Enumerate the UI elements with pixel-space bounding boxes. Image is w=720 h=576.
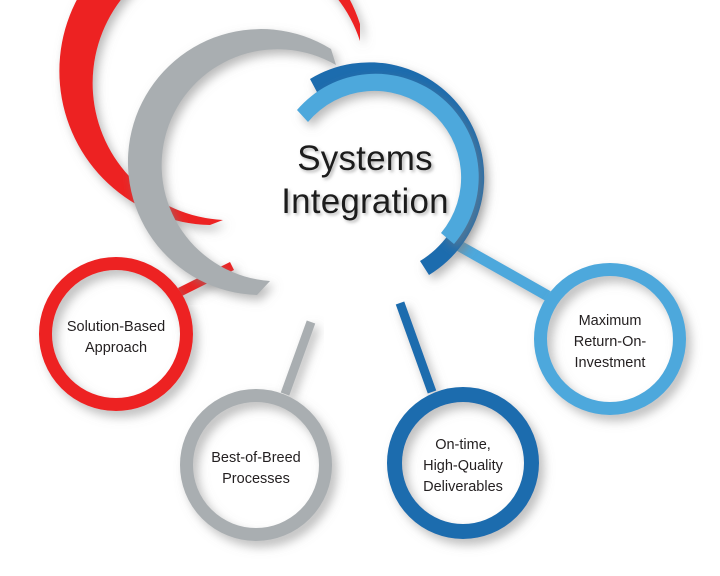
node-label-line: High-Quality [423,458,504,474]
node-solution-based-approach[interactable]: Solution-Based Approach [46,264,187,405]
node-label-line: Approach [85,340,147,356]
node-on-time-high-quality-deliverables[interactable]: On-time, High-Quality Deliverables [395,395,532,532]
node-label-line: Best-of-Breed [211,450,300,466]
title-line-1: Systems [297,139,433,178]
connector-on-time-high-quality-deliverables [400,303,432,392]
connector-best-of-breed-processes [285,322,311,394]
node-label-line: Solution-Based [67,319,165,335]
page-title: Systems Integration [281,139,449,221]
node-label-line: Return-On- [574,334,647,350]
connector-group [180,244,548,394]
diagram-canvas: Systems Integration Solution-Based Appro… [0,0,720,576]
node-label-line: On-time, [435,437,491,453]
node-best-of-breed-processes[interactable]: Best-of-Breed Processes [187,396,326,535]
node-label-line: Deliverables [423,479,503,495]
node-label-line: Investment [575,355,646,371]
node-maximum-return-on-investment[interactable]: Maximum Return-On- Investment [541,270,680,409]
node-label-line: Maximum [579,313,642,329]
connector-maximum-return-on-investment [456,244,548,296]
systems-integration-diagram: Systems Integration Solution-Based Appro… [0,0,720,576]
node-label-line: Processes [222,471,290,487]
title-line-2: Integration [281,182,449,221]
